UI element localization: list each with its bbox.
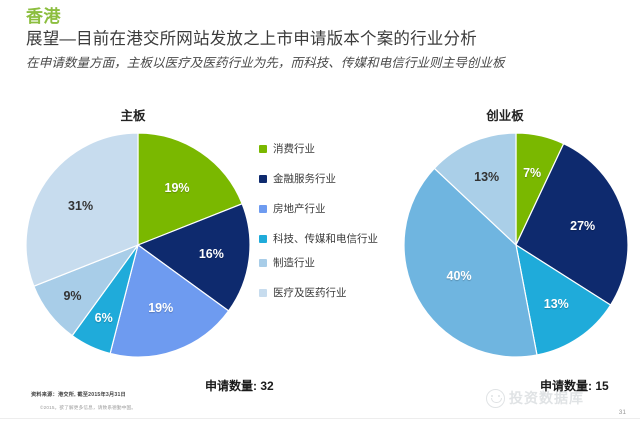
legend-item-consumer: 消费行业 <box>259 142 379 157</box>
chart-legend: 消费行业 金融服务行业 房地产行业 科技、传媒和电信行业 制造行业 医疗及医药行… <box>259 142 379 301</box>
source-note: 资料来源：港交所, 截至2015年3月31日 <box>31 391 126 398</box>
page-title: 展望—目前在港交所网站发放之上市申请版本个案的行业分析 <box>26 28 628 50</box>
legend-item-tmt: 科技、传媒和电信行业 <box>259 232 379 247</box>
legend-label-manufacturing: 制造行业 <box>273 256 315 271</box>
legend-item-financial: 金融服务行业 <box>259 172 379 187</box>
legend-label-healthcare: 医疗及医药行业 <box>273 286 347 301</box>
chart-title-main-board: 主板 <box>88 105 178 124</box>
pie-svg-gem-board <box>404 133 628 357</box>
chart-title-gem-board: 创业板 <box>450 105 560 124</box>
legend-swatch-healthcare <box>259 289 267 297</box>
application-count-gem-board: 申请数量: 15 <box>540 377 609 394</box>
legend-swatch-realestate <box>259 205 267 213</box>
pie-chart-gem-board: 7%27%13%40%13% <box>398 128 628 378</box>
legend-label-financial: 金融服务行业 <box>273 172 336 187</box>
legend-swatch-financial <box>259 175 267 183</box>
footer-divider <box>0 418 640 419</box>
page-number: 31 <box>619 409 626 416</box>
pie-chart-main-board: 19%16%19%6%9%31% <box>20 128 250 378</box>
header-subtitle: 在申请数量方面，主板以医疗及医药行业为先，而科技、传媒和电信行业则主导创业板 <box>26 54 586 72</box>
smiley-face-icon <box>486 389 505 408</box>
copyright-note: ©2015。欲了解更多信息，请致系德勤中国。 <box>40 405 136 411</box>
legend-item-realestate: 房地产行业 <box>259 202 379 217</box>
application-count-main-board: 申请数量: 32 <box>205 377 274 394</box>
legend-label-consumer: 消费行业 <box>273 142 315 157</box>
legend-item-manufacturing: 制造行业 <box>259 256 379 271</box>
legend-swatch-consumer <box>259 145 267 153</box>
legend-swatch-manufacturing <box>259 259 267 267</box>
legend-swatch-tmt <box>259 235 267 243</box>
header-kicker: 香港 <box>26 6 628 27</box>
pie-svg-main-board <box>26 133 250 357</box>
slide-header: 香港 展望—目前在港交所网站发放之上市申请版本个案的行业分析 在申请数量方面，主… <box>26 6 628 72</box>
legend-item-healthcare: 医疗及医药行业 <box>259 286 379 301</box>
slide: 香港 展望—目前在港交所网站发放之上市申请版本个案的行业分析 在申请数量方面，主… <box>0 0 640 429</box>
legend-label-realestate: 房地产行业 <box>273 202 326 217</box>
legend-label-tmt: 科技、传媒和电信行业 <box>273 232 378 247</box>
